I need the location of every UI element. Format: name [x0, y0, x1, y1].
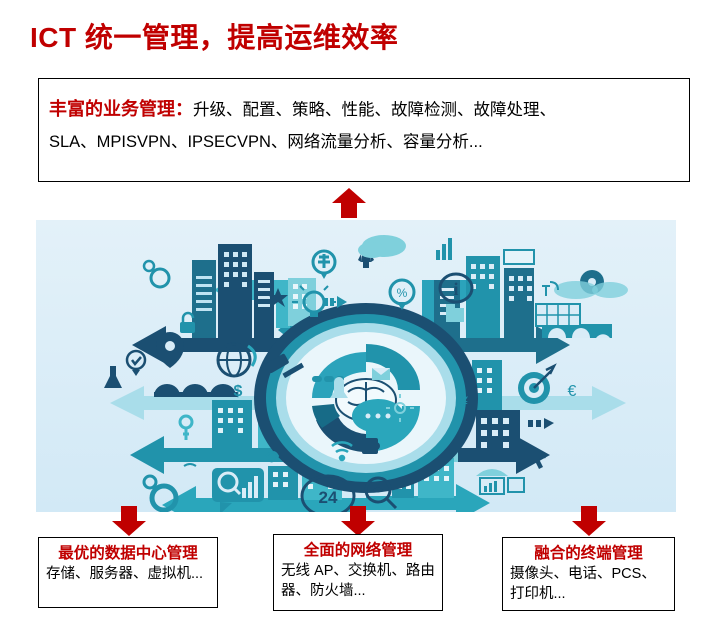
- hill-shapes-left: [154, 384, 238, 397]
- feature-desc-terminal: 摄像头、电话、PCS、打印机...: [510, 564, 667, 604]
- up-arrow-icon: [332, 188, 366, 218]
- svg-text:i: i: [453, 279, 458, 299]
- mail-icon: [372, 368, 390, 380]
- feature-box-network: 全面的网络管理 无线 AP、交换机、路由器、防火墙...: [273, 534, 443, 611]
- feature-box-datacenter: 最优的数据中心管理 存储、服务器、虚拟机...: [38, 537, 218, 608]
- feature-title-terminal: 融合的终端管理: [510, 544, 667, 564]
- svg-text:€: €: [568, 383, 577, 400]
- down-arrow-icon-3: [572, 506, 606, 536]
- svg-text:$: $: [234, 383, 243, 400]
- svg-text:%: %: [397, 286, 408, 300]
- feature-title-network: 全面的网络管理: [281, 541, 435, 561]
- yen-icon: ¥: [459, 393, 468, 409]
- center-hub: [254, 303, 478, 493]
- feature-title-datacenter: 最优的数据中心管理: [46, 544, 210, 564]
- feature-box-terminal: 融合的终端管理 摄像头、电话、PCS、打印机...: [502, 537, 675, 611]
- euro-icon: €: [568, 383, 577, 400]
- services-line-2: SLA、MPISVPN、IPSECVPN、网络流量分析、容量分析...: [49, 126, 679, 158]
- down-arrow-icon-1: [112, 506, 146, 536]
- services-description-box: 丰富的业务管理：升级、配置、策略、性能、故障检测、故障处理、 SLA、MPISV…: [38, 78, 690, 182]
- feature-desc-datacenter: 存储、服务器、虚拟机...: [46, 564, 210, 584]
- services-label: 丰富的业务管理：: [49, 99, 193, 119]
- services-line-1-text: 升级、配置、策略、性能、故障检测、故障处理、: [193, 101, 556, 119]
- services-line-1: 丰富的业务管理：升级、配置、策略、性能、故障检测、故障处理、: [49, 93, 679, 126]
- ict-infographic-image: % i: [36, 220, 676, 512]
- feature-desc-network: 无线 AP、交换机、路由器、防火墙...: [281, 561, 435, 601]
- dollar-icon: $: [234, 383, 243, 400]
- svg-text:¥: ¥: [459, 393, 468, 409]
- page-title: ICT 统一管理，提高运维效率: [30, 16, 398, 56]
- svg-text:24: 24: [319, 488, 338, 507]
- down-arrow-icon-2: [341, 506, 375, 536]
- solar-panel-icon: [536, 304, 580, 326]
